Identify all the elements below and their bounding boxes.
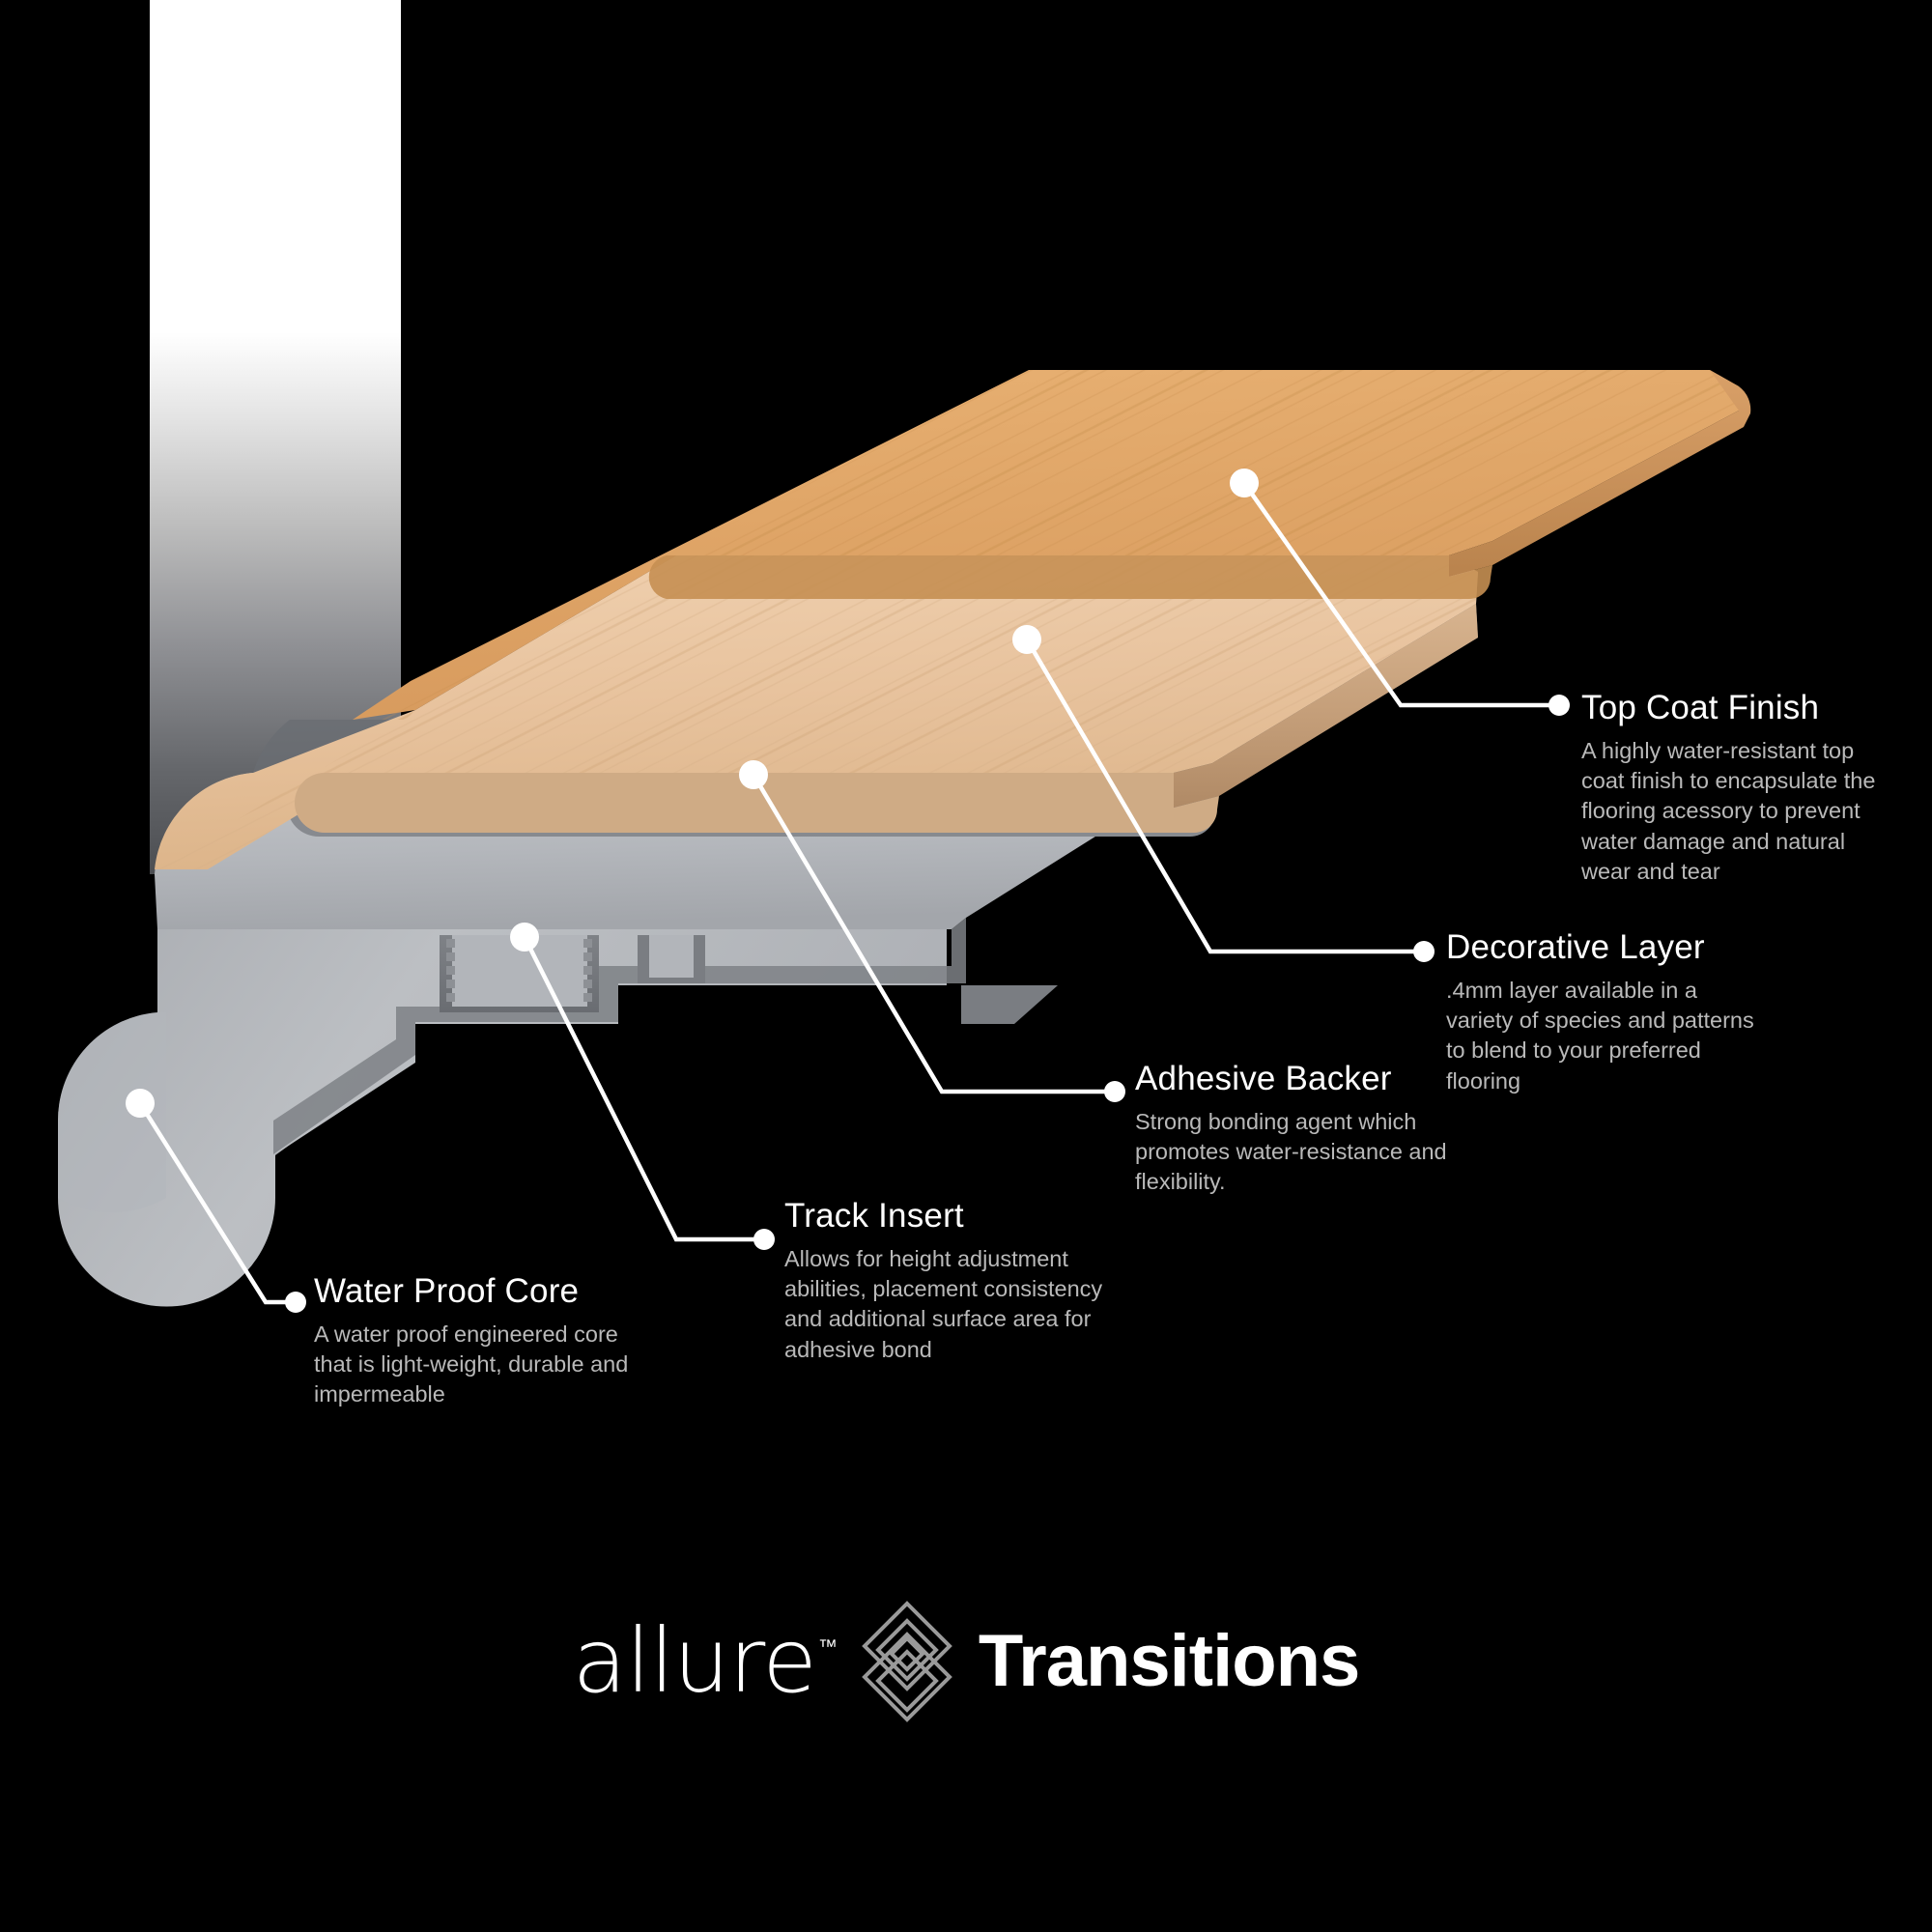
- dot-core-label: [285, 1292, 306, 1313]
- callout-adhesive-backer: Adhesive Backer Strong bonding agent whi…: [1135, 1061, 1454, 1198]
- callout-track-insert: Track Insert Allows for height adjustmen…: [784, 1198, 1122, 1365]
- callout-body: Strong bonding agent which promotes wate…: [1135, 1107, 1454, 1198]
- callout-water-proof-core: Water Proof Core A water proof engineere…: [314, 1273, 662, 1410]
- product-diagram-canvas: Top Coat Finish A highly water-resistant…: [0, 0, 1932, 1932]
- dot-adhesive-label: [1104, 1081, 1125, 1102]
- dot-decorative-label: [1413, 941, 1435, 962]
- callout-body: A highly water-resistant top coat finish…: [1581, 736, 1900, 888]
- callout-decorative-layer: Decorative Layer .4mm layer available in…: [1446, 929, 1765, 1096]
- dot-top-coat-label: [1548, 695, 1570, 716]
- brand-logo-lockup: allure™ Transitions: [0, 1589, 1932, 1734]
- callout-title: Decorative Layer: [1446, 929, 1765, 967]
- dot-decorative-origin: [1012, 625, 1041, 654]
- dot-core-origin: [126, 1089, 155, 1118]
- callout-body: Allows for height adjustment abilities, …: [784, 1244, 1122, 1366]
- callout-body: .4mm layer available in a variety of spe…: [1446, 976, 1765, 1097]
- trademark-icon: ™: [818, 1634, 838, 1658]
- callout-title: Top Coat Finish: [1581, 690, 1900, 727]
- product-line-wordmark: Transitions: [979, 1625, 1359, 1698]
- dot-adhesive-origin: [739, 760, 768, 789]
- callout-title: Track Insert: [784, 1198, 1122, 1236]
- dot-track-origin: [510, 923, 539, 952]
- callout-body: A water proof engineered core that is li…: [314, 1320, 662, 1410]
- callout-title: Water Proof Core: [314, 1273, 662, 1311]
- callout-top-coat-finish: Top Coat Finish A highly water-resistant…: [1581, 690, 1900, 888]
- allure-wordmark-text: allure: [573, 1609, 816, 1713]
- dot-top-coat-origin: [1230, 469, 1259, 497]
- callout-title: Adhesive Backer: [1135, 1061, 1454, 1098]
- allure-wordmark: allure™: [573, 1617, 836, 1706]
- diamond-lattice-icon: [861, 1600, 953, 1723]
- dot-track-label: [753, 1229, 775, 1250]
